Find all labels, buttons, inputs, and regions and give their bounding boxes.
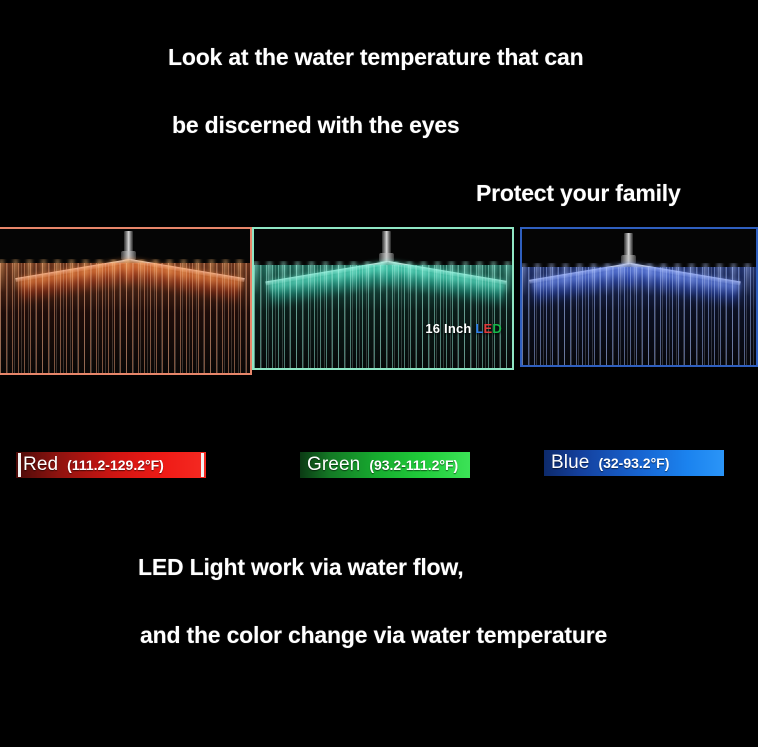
watermark-letter-d: D	[492, 321, 502, 336]
led-sparkle-row	[0, 259, 250, 293]
shower-arm-icon	[624, 233, 633, 261]
led-sparkle-row	[254, 261, 512, 295]
shower-scene-blue	[522, 229, 756, 365]
headline-line-4: LED Light work via water flow,	[138, 554, 463, 581]
shower-scene-red	[0, 229, 250, 373]
product-photo-red	[0, 227, 252, 375]
legend-range-blue: (32-93.2°F)	[598, 455, 669, 471]
led-sparkle-row	[522, 263, 756, 297]
legend-badge-blue: Blue (32-93.2°F)	[544, 450, 724, 476]
watermark-size-label: 16 Inch	[425, 321, 475, 336]
photo-watermark: 16 Inch LED	[425, 321, 502, 336]
legend-range-green: (93.2-111.2°F)	[369, 457, 458, 473]
legend-range-red: (111.2-129.2°F)	[67, 457, 164, 473]
legend-name-red: Red	[23, 454, 58, 476]
legend-badge-red: Red (111.2-129.2°F)	[16, 452, 206, 478]
legend-name-green: Green	[307, 454, 360, 476]
product-photo-blue	[520, 227, 758, 367]
headline-line-2: be discerned with the eyes	[172, 112, 460, 139]
legend-name-blue: Blue	[551, 452, 589, 474]
shower-arm-icon	[124, 231, 133, 257]
product-photo-green: 16 Inch LED	[252, 227, 514, 370]
headline-line-5: and the color change via water temperatu…	[140, 622, 607, 649]
shower-scene-green: 16 Inch LED	[254, 229, 512, 368]
legend-badge-green: Green (93.2-111.2°F)	[300, 452, 470, 478]
watermark-letter-l: L	[475, 321, 483, 336]
shower-arm-icon	[382, 231, 391, 259]
headline-line-1: Look at the water temperature that can	[168, 44, 583, 71]
product-photo-strip: 16 Inch LED	[0, 227, 758, 379]
headline-protect-your-family: Protect your family	[476, 180, 681, 207]
